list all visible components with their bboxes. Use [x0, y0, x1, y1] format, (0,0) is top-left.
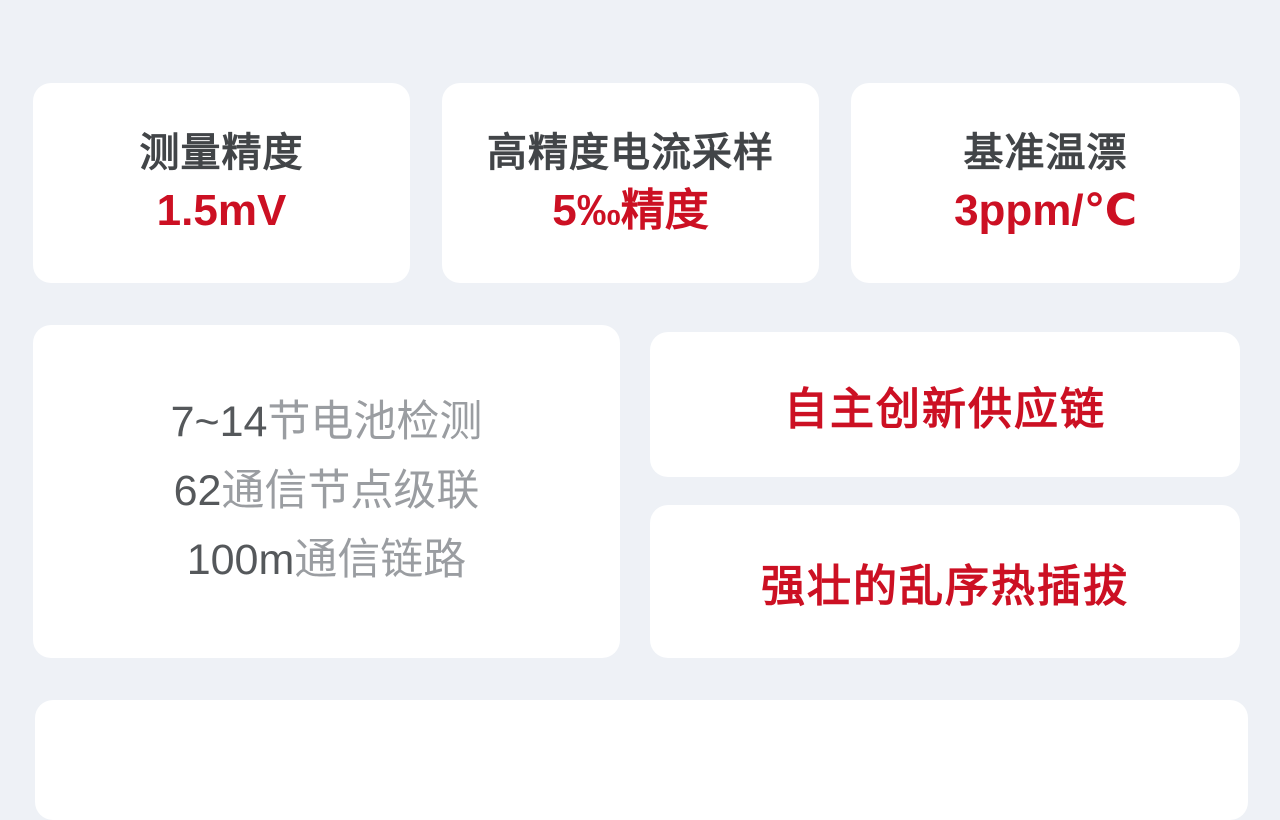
- spec-line-text: 节电池检测: [267, 398, 482, 446]
- banner-card-supply-chain[interactable]: 自主创新供应链: [650, 332, 1240, 477]
- banner-card-hot-swap[interactable]: 强壮的乱序热插拔: [650, 505, 1240, 658]
- stat-card-measurement-accuracy[interactable]: 测量精度 1.5mV: [33, 83, 410, 283]
- spec-list-card[interactable]: 7~14节电池检测 62通信节点级联 100m通信链路: [33, 325, 620, 658]
- stat-card-title: 基准温漂: [964, 130, 1128, 176]
- stat-card-value: 1.5mV: [157, 186, 287, 237]
- page-root: 测量精度 1.5mV 高精度电流采样 5‰精度 基准温漂 3ppm/℃ 7~14…: [0, 0, 1280, 720]
- spec-line-text: 通信节点级联: [221, 467, 479, 515]
- stat-card-reference-temp-drift[interactable]: 基准温漂 3ppm/℃: [851, 83, 1240, 283]
- stat-card-title: 测量精度: [140, 130, 304, 176]
- stat-card-value: 3ppm/℃: [954, 186, 1137, 237]
- banner-card-label: 自主创新供应链: [784, 373, 1106, 437]
- spec-line-number: 7~14: [171, 398, 268, 446]
- spec-line-number: 100m: [187, 536, 295, 584]
- bottom-partial-card[interactable]: [35, 700, 1248, 820]
- spec-line-number: 62: [174, 467, 222, 515]
- stat-card-value: 5‰精度: [552, 186, 708, 237]
- spec-line: 62通信节点级联: [174, 468, 480, 515]
- banner-card-label: 强壮的乱序热插拔: [761, 550, 1129, 614]
- spec-line: 7~14节电池检测: [171, 399, 483, 446]
- stat-card-title: 高精度电流采样: [487, 130, 774, 176]
- spec-line-text: 通信链路: [294, 536, 466, 584]
- stat-card-current-sampling[interactable]: 高精度电流采样 5‰精度: [442, 83, 819, 283]
- spec-line: 100m通信链路: [187, 537, 467, 584]
